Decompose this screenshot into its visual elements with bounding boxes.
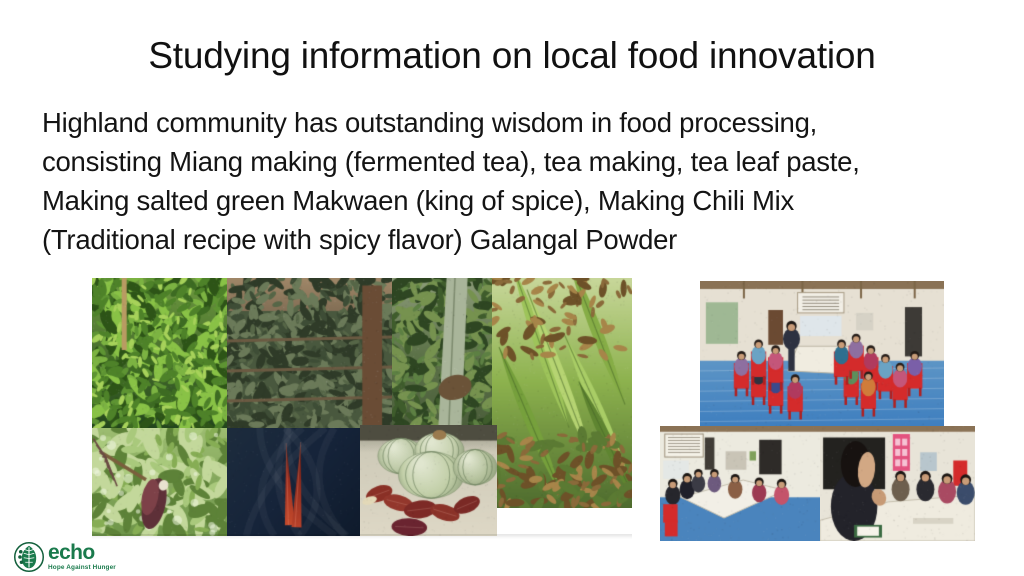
facilitator-speaking-photo (820, 426, 975, 541)
community-meeting-circle-photo (700, 281, 944, 426)
tea-bush-photo (92, 278, 227, 428)
page-title: Studying information on local food innov… (0, 33, 1024, 79)
body-line-2: consisting Miang making (fermented tea),… (42, 142, 992, 181)
body-line-4: (Traditional recipe with spicy flavor) G… (42, 220, 992, 259)
forest-grove-photo (392, 278, 497, 430)
tea-drying-photo (227, 278, 392, 428)
left-photo-collage (92, 278, 632, 536)
echo-tagline: Hope Against Hunger (48, 565, 116, 571)
echo-leaf-emblem-icon (14, 542, 44, 572)
banana-leaves-photo (492, 278, 632, 508)
body-paragraph: Highland community has outstanding wisdo… (42, 103, 992, 259)
banana-flower-photo (92, 428, 227, 536)
meeting-table-photo (660, 426, 820, 541)
collage-shadow (92, 534, 632, 539)
echo-logo: echo Hope Against Hunger (14, 541, 134, 573)
body-line-3: Making salted green Makwaen (king of spi… (42, 181, 992, 220)
echo-logo-text: echo Hope Against Hunger (48, 542, 116, 571)
presentation-slide: Studying information on local food innov… (0, 0, 1024, 576)
right-photo-collage (660, 281, 978, 552)
body-line-1: Highland community has outstanding wisdo… (42, 103, 992, 142)
gourds-tubers-photo (360, 425, 497, 536)
makwaen-buds-photo (227, 428, 360, 536)
echo-wordmark: echo (48, 542, 116, 563)
